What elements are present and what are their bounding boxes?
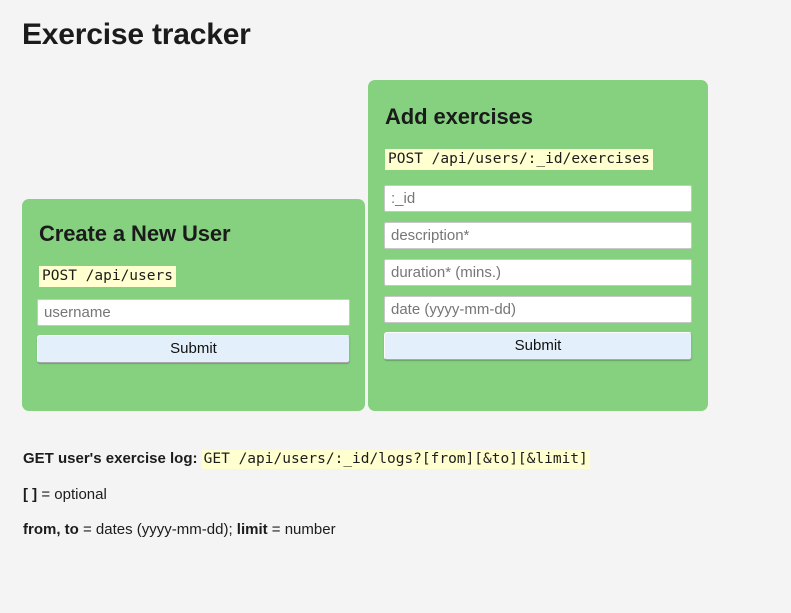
exercise-id-input[interactable] [384, 185, 692, 212]
add-exercises-fields [384, 185, 692, 323]
params-note: from, to = dates (yyyy-mm-dd); limit = n… [23, 521, 753, 538]
add-exercises-endpoint: POST /api/users/:_id/exercises [385, 149, 653, 170]
create-user-submit-button[interactable]: Submit [37, 335, 350, 363]
params-dates-text: = dates (yyyy-mm-dd); [79, 521, 237, 538]
optional-symbol: [ ] [23, 486, 37, 503]
exercise-date-input[interactable] [384, 296, 692, 323]
optional-text: = optional [37, 486, 107, 503]
page-title: Exercise tracker [22, 18, 251, 52]
exercise-duration-input[interactable] [384, 259, 692, 286]
exercise-log-note: GET user's exercise log: GET /api/users/… [23, 450, 753, 468]
create-user-title: Create a New User [39, 221, 350, 247]
create-user-endpoint-row: POST /api/users [39, 266, 350, 287]
create-user-endpoint: POST /api/users [39, 266, 176, 287]
add-exercises-panel: Add exercises POST /api/users/:_id/exerc… [368, 80, 708, 411]
optional-note: [ ] = optional [23, 486, 753, 503]
create-user-panel: Create a New User POST /api/users Submit [22, 199, 365, 411]
add-exercises-title: Add exercises [385, 104, 692, 130]
exercise-log-endpoint: GET /api/users/:_id/logs?[from][&to][&li… [202, 450, 590, 469]
add-exercises-endpoint-row: POST /api/users/:_id/exercises [385, 149, 692, 170]
params-limit-label: limit [237, 521, 268, 538]
api-notes: GET user's exercise log: GET /api/users/… [23, 450, 753, 538]
username-input[interactable] [37, 299, 350, 326]
params-from-to-label: from, to [23, 521, 79, 538]
params-number-text: = number [268, 521, 336, 538]
exercise-description-input[interactable] [384, 222, 692, 249]
add-exercise-submit-button[interactable]: Submit [384, 332, 692, 360]
exercise-log-label: GET user's exercise log: [23, 450, 197, 467]
